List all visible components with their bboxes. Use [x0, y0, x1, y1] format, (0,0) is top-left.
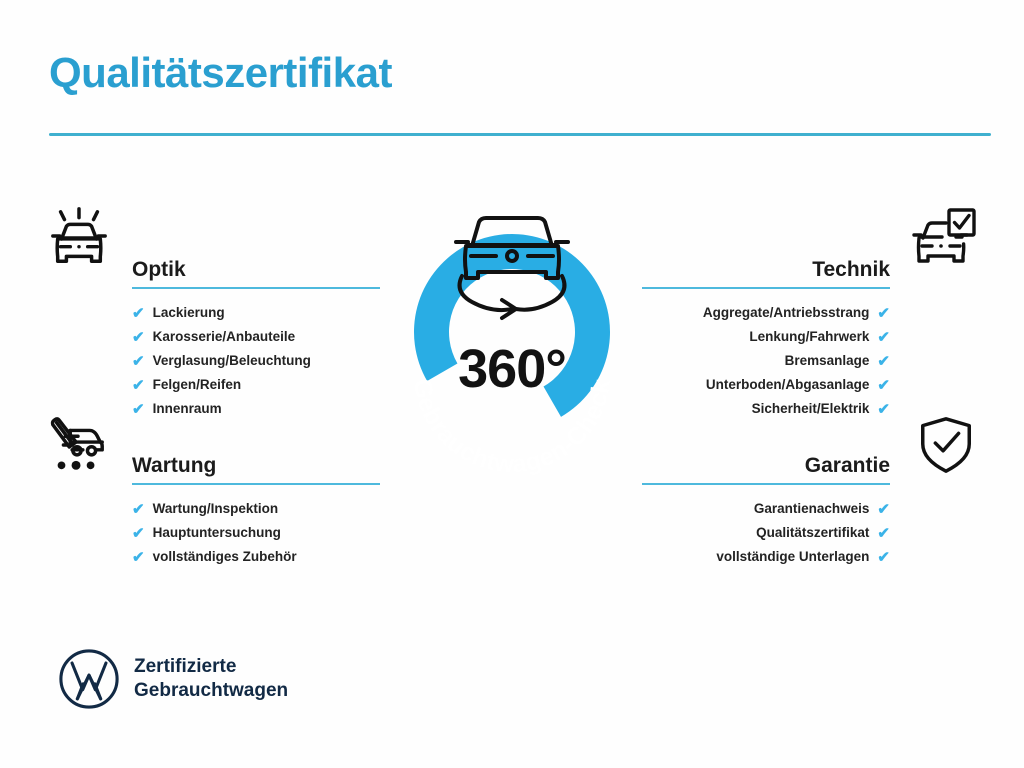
list-item-label: Aggregate/Antriebsstrang [703, 306, 870, 320]
section-garantie-divider [642, 483, 890, 485]
section-garantie-title: Garantie [805, 455, 890, 476]
section-wartung-divider [132, 483, 380, 485]
badge-360-check: Gebrauchtwagen-Check [376, 196, 648, 494]
check-icon: ✔ [132, 402, 145, 417]
car-polish-icon [48, 206, 110, 268]
list-item: Qualitätszertifikat ✔ [642, 521, 890, 545]
section-optik: Optik ✔ Lackierung ✔ Karosserie/Anbautei… [132, 238, 380, 421]
section-optik-title: Optik [132, 259, 186, 280]
list-item: Bremsanlage ✔ [642, 349, 890, 373]
check-icon: ✔ [132, 526, 145, 541]
list-item: ✔ Karosserie/Anbauteile [132, 325, 380, 349]
footer-line-1: Zertifizierte [134, 655, 288, 679]
car-service-icon [46, 413, 108, 475]
section-wartung-title: Wartung [132, 455, 216, 476]
list-item-label: vollständiges Zubehör [153, 550, 297, 564]
section-optik-divider [132, 287, 380, 289]
list-item-label: Lackierung [153, 306, 225, 320]
shield-check-icon [915, 414, 977, 476]
list-item: ✔ Lackierung [132, 301, 380, 325]
list-item: ✔ Verglasung/Beleuchtung [132, 349, 380, 373]
list-item-label: Lenkung/Fahrwerk [749, 330, 869, 344]
section-technik-divider [642, 287, 890, 289]
badge-center-label: 360° [376, 342, 648, 396]
title-divider [49, 133, 991, 136]
check-icon: ✔ [877, 526, 890, 541]
list-item: ✔ Hauptuntersuchung [132, 521, 380, 545]
footer-line-2: Gebrauchtwagen [134, 679, 288, 703]
list-item-label: Verglasung/Beleuchtung [153, 354, 311, 368]
list-item: ✔ Wartung/Inspektion [132, 497, 380, 521]
check-icon: ✔ [132, 378, 145, 393]
page-title: Qualitätszertifikat [49, 50, 392, 96]
list-item-label: Qualitätszertifikat [756, 526, 869, 540]
check-icon: ✔ [132, 550, 145, 565]
section-wartung-list: ✔ Wartung/Inspektion ✔ Hauptuntersuchung… [132, 497, 380, 569]
list-item: ✔ Innenraum [132, 397, 380, 421]
section-technik-title: Technik [812, 259, 890, 280]
check-icon: ✔ [877, 502, 890, 517]
check-icon: ✔ [132, 330, 145, 345]
section-optik-list: ✔ Lackierung ✔ Karosserie/Anbauteile ✔ V… [132, 301, 380, 421]
list-item: Lenkung/Fahrwerk ✔ [642, 325, 890, 349]
list-item-label: Innenraum [153, 402, 222, 416]
check-icon: ✔ [132, 354, 145, 369]
section-garantie-list: Garantienachweis ✔ Qualitätszertifikat ✔… [642, 497, 890, 569]
list-item-label: Felgen/Reifen [153, 378, 242, 392]
section-technik-header: Technik [642, 238, 890, 280]
list-item-label: Karosserie/Anbauteile [153, 330, 296, 344]
car-checkbox-icon [912, 206, 978, 268]
check-icon: ✔ [877, 378, 890, 393]
check-icon: ✔ [877, 550, 890, 565]
list-item: vollständige Unterlagen ✔ [642, 545, 890, 569]
list-item-label: Wartung/Inspektion [153, 502, 279, 516]
check-icon: ✔ [877, 330, 890, 345]
check-icon: ✔ [877, 402, 890, 417]
section-garantie: Garantie Garantienachweis ✔ Qualitätszer… [642, 434, 890, 569]
section-technik: Technik Aggregate/Antriebsstrang ✔ Lenku… [642, 238, 890, 421]
badge-ring [378, 198, 646, 466]
list-item-label: Hauptuntersuchung [153, 526, 281, 540]
list-item: ✔ Felgen/Reifen [132, 373, 380, 397]
list-item: ✔ vollständiges Zubehör [132, 545, 380, 569]
check-icon: ✔ [877, 306, 890, 321]
list-item-label: Bremsanlage [785, 354, 870, 368]
list-item: Garantienachweis ✔ [642, 497, 890, 521]
section-optik-header: Optik [132, 238, 380, 280]
list-item-label: vollständige Unterlagen [716, 550, 869, 564]
list-item: Sicherheit/Elektrik ✔ [642, 397, 890, 421]
list-item-label: Sicherheit/Elektrik [752, 402, 870, 416]
check-icon: ✔ [132, 306, 145, 321]
list-item-label: Garantienachweis [754, 502, 870, 516]
footer-text: Zertifizierte Gebrauchtwagen [134, 655, 288, 704]
footer-brand: Zertifizierte Gebrauchtwagen [58, 648, 288, 710]
list-item: Aggregate/Antriebsstrang ✔ [642, 301, 890, 325]
section-technik-list: Aggregate/Antriebsstrang ✔ Lenkung/Fahrw… [642, 301, 890, 421]
section-garantie-header: Garantie [642, 434, 890, 476]
check-icon: ✔ [877, 354, 890, 369]
section-wartung-header: Wartung [132, 434, 380, 476]
check-icon: ✔ [132, 502, 145, 517]
certificate-page: Qualitätszertifikat Optik [0, 0, 1024, 768]
vw-logo-icon [58, 648, 120, 710]
list-item: Unterboden/Abgasanlage ✔ [642, 373, 890, 397]
section-wartung: Wartung ✔ Wartung/Inspektion ✔ Hauptunte… [132, 434, 380, 569]
list-item-label: Unterboden/Abgasanlage [706, 378, 870, 392]
